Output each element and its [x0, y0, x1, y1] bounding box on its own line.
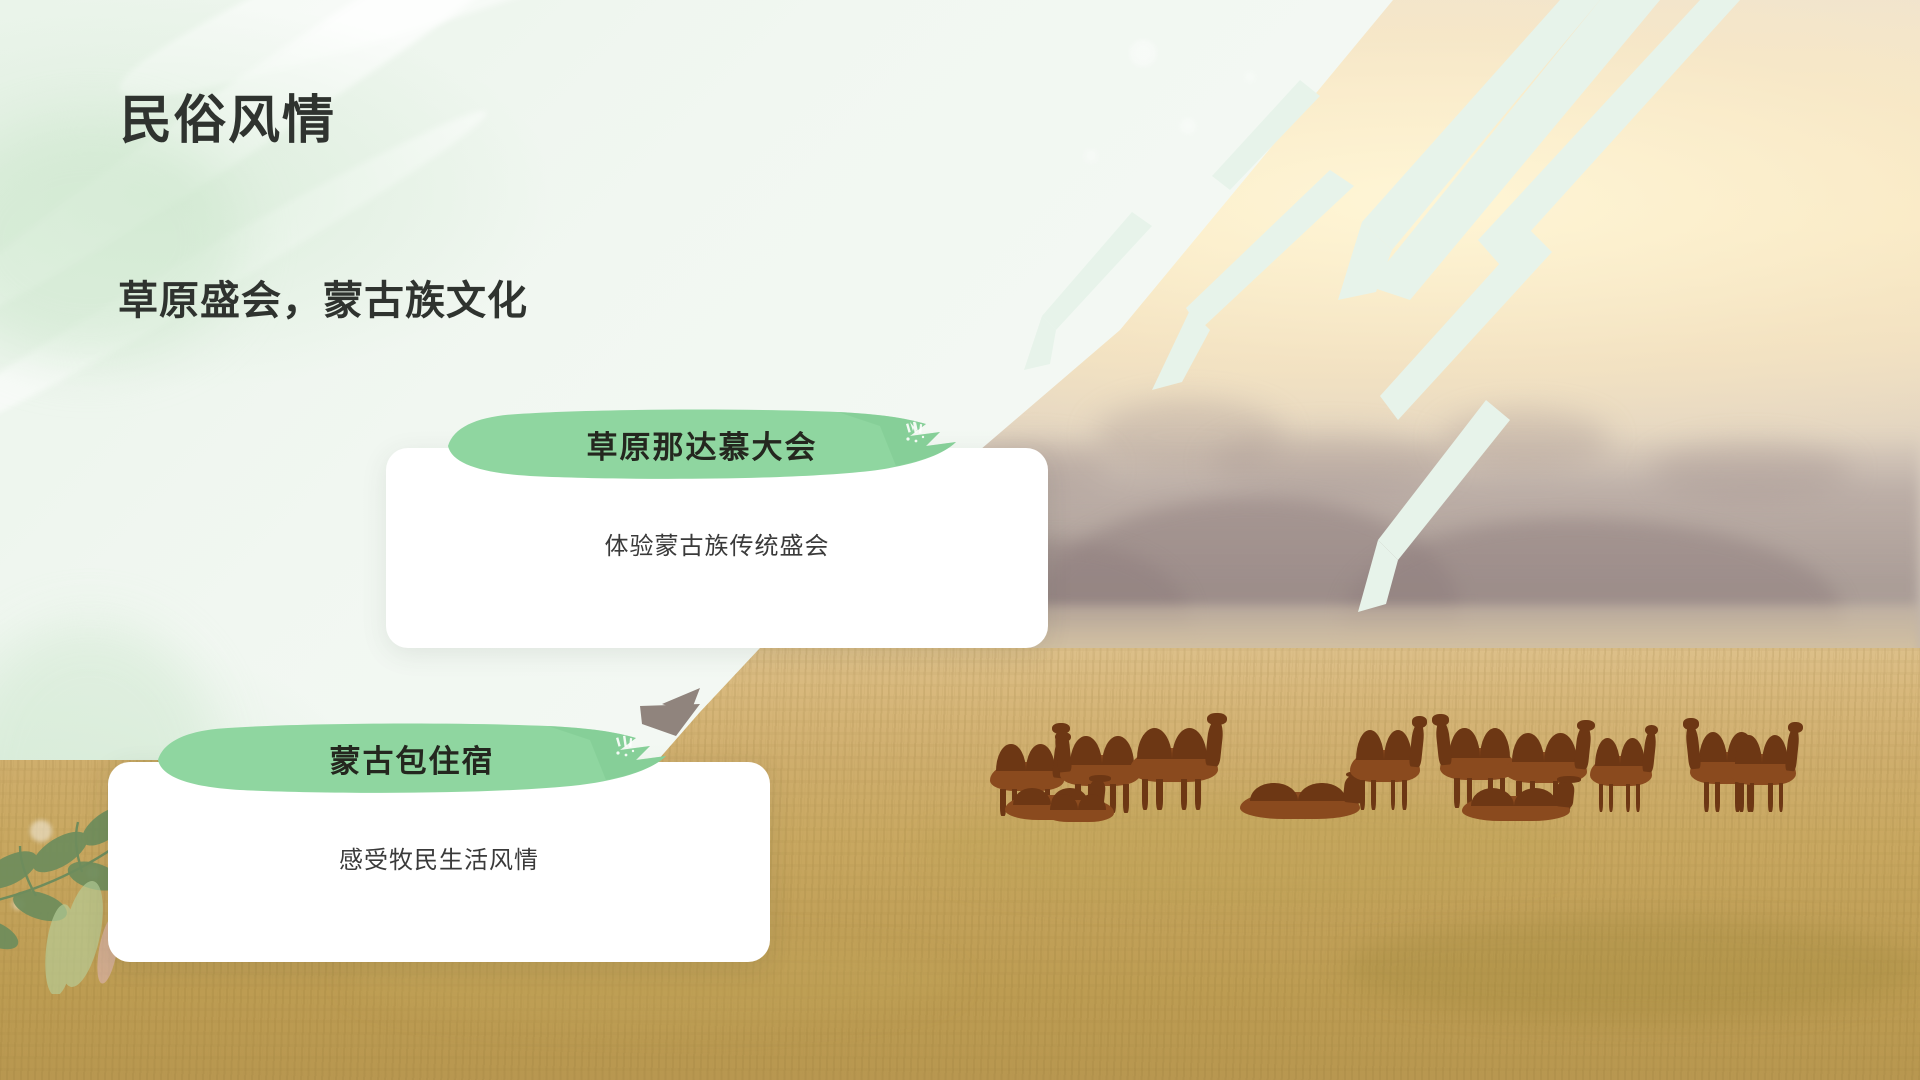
camel-resting	[1044, 800, 1114, 830]
card-description: 体验蒙古族传统盛会	[386, 526, 1048, 561]
grass-patch	[1344, 916, 1920, 1020]
card-banner-label: 蒙古包住宿	[150, 720, 680, 796]
card-description: 感受牧民生活风情	[108, 840, 770, 875]
bokeh-dot	[1245, 72, 1255, 82]
bokeh-dot	[1180, 118, 1196, 134]
camel	[1590, 756, 1652, 810]
card-banner-2: 蒙古包住宿	[150, 720, 680, 796]
slide-root: 民俗风情 草原盛会，蒙古族文化 体验蒙古族传统盛会 草原那达慕大会 感受牧民生活…	[0, 0, 1920, 1080]
camel-resting	[1240, 792, 1360, 828]
card-banner-1: 草原那达慕大会	[440, 406, 970, 482]
page-title: 民俗风情	[120, 78, 336, 153]
bokeh-dot	[1130, 40, 1156, 66]
camel	[1730, 754, 1796, 810]
camel	[1350, 750, 1420, 808]
page-subtitle: 草原盛会，蒙古族文化	[118, 268, 528, 326]
card-banner-label: 草原那达慕大会	[440, 406, 970, 482]
camel-resting	[1462, 796, 1570, 830]
bokeh-dot	[1085, 150, 1097, 162]
camel	[1130, 748, 1218, 808]
